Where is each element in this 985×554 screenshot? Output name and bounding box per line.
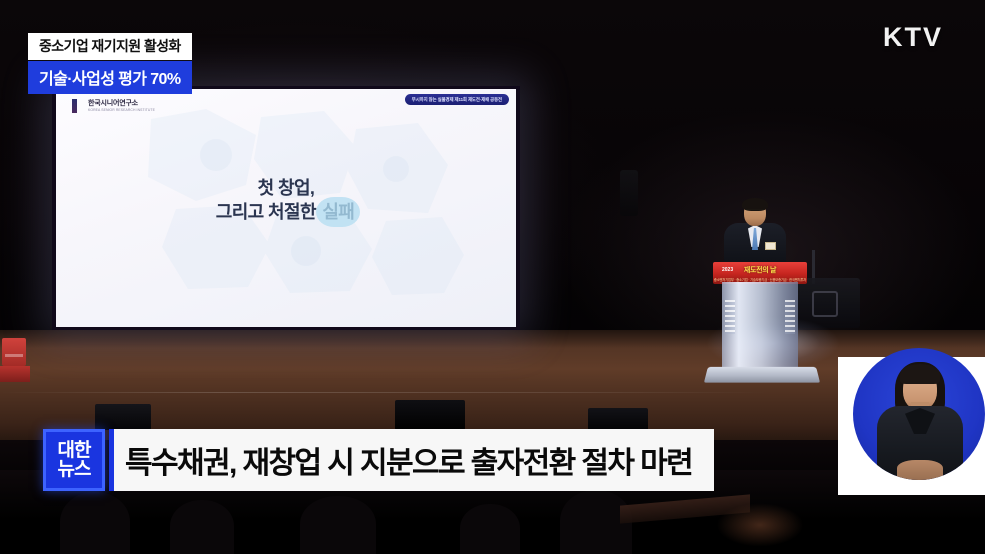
interpreter-fringe [900, 364, 940, 384]
broadcast-frame: 한국시니어연구소 KOREA SENIOR RESEARCH INSTITUTE… [0, 0, 985, 554]
headline-overlay: 중소기업 재기지원 활성화 기술·사업성 평가 70% [28, 33, 192, 94]
audience-silhouette [460, 504, 520, 554]
podium-banner: 2023 재도전의 날 중소벤처기업부 · 중소기업 · 기술보증기금 · 신용… [713, 262, 807, 284]
projection-screen-frame: 한국시니어연구소 KOREA SENIOR RESEARCH INSTITUTE… [52, 86, 520, 330]
stage-prop-red-base [0, 366, 30, 382]
interpreter-hands [897, 460, 943, 480]
slide-brand-logo: 한국시니어연구소 KOREA SENIOR RESEARCH INSTITUTE [72, 99, 155, 113]
lower-third-ticker: 대한 뉴스 특수채권, 재창업 시 지분으로 출자전환 절차 마련 [43, 429, 714, 491]
audience-silhouette [60, 492, 130, 554]
sign-language-inset [853, 348, 985, 480]
projection-screen: 한국시니어연구소 KOREA SENIOR RESEARCH INSTITUTE… [56, 89, 516, 327]
slide-logo-subtitle: KOREA SENIOR RESEARCH INSTITUTE [88, 108, 155, 112]
ticker-logo-line2: 뉴스 [58, 460, 91, 479]
ticker-bar: 특수채권, 재창업 시 지분으로 출자전환 절차 마련 [109, 429, 714, 491]
stage-monitor-center [395, 400, 465, 430]
slide-headline-highlight-text: 실패 [322, 202, 354, 222]
slide-headline-line1: 첫 창업, [56, 177, 516, 201]
podium-banner-title: 재도전의 날 [713, 265, 807, 275]
audience-silhouette [170, 500, 234, 554]
presenter [718, 198, 792, 270]
slide-headline-line2-text: 그리고 처절한 [216, 202, 316, 222]
stage-monitor-left [95, 404, 151, 430]
headline-subtopic: 기술·사업성 평가 70% [28, 61, 192, 94]
slide-headline-block: 첫 창업, 그리고 처절한 실패 [56, 177, 516, 225]
channel-logo-ktv: KTV [883, 22, 943, 53]
ticker-logo-line1: 대한 [58, 441, 91, 460]
audience-silhouette [300, 496, 376, 554]
hanging-speaker [620, 170, 638, 216]
slide-logo-name: 한국시니어연구소 [88, 100, 155, 108]
slide-corner-pill: 무시하지 않는 실물경제 제11회 재도전·재패 공동전 [405, 94, 509, 105]
podium-base [704, 367, 820, 383]
presenter-name-badge [765, 242, 776, 250]
audience-warm-light [700, 496, 820, 554]
slide-headline-highlight: 실패 [320, 201, 356, 225]
ticker-headline-text: 특수채권, 재창업 시 지분으로 출자전환 절차 마련 [125, 438, 692, 482]
presenter-glasses-icon [745, 209, 765, 214]
slide-logo-mark-icon [72, 99, 84, 113]
slide-logo-text-group: 한국시니어연구소 KOREA SENIOR RESEARCH INSTITUTE [88, 100, 155, 112]
podium-column [722, 282, 798, 374]
headline-topic: 중소기업 재기지원 활성화 [28, 33, 192, 60]
stage-prop-red-box [2, 338, 26, 366]
ticker-logo-daehan-news: 대한 뉴스 [43, 429, 105, 491]
slide-headline-line2: 그리고 처절한 실패 [216, 201, 357, 225]
